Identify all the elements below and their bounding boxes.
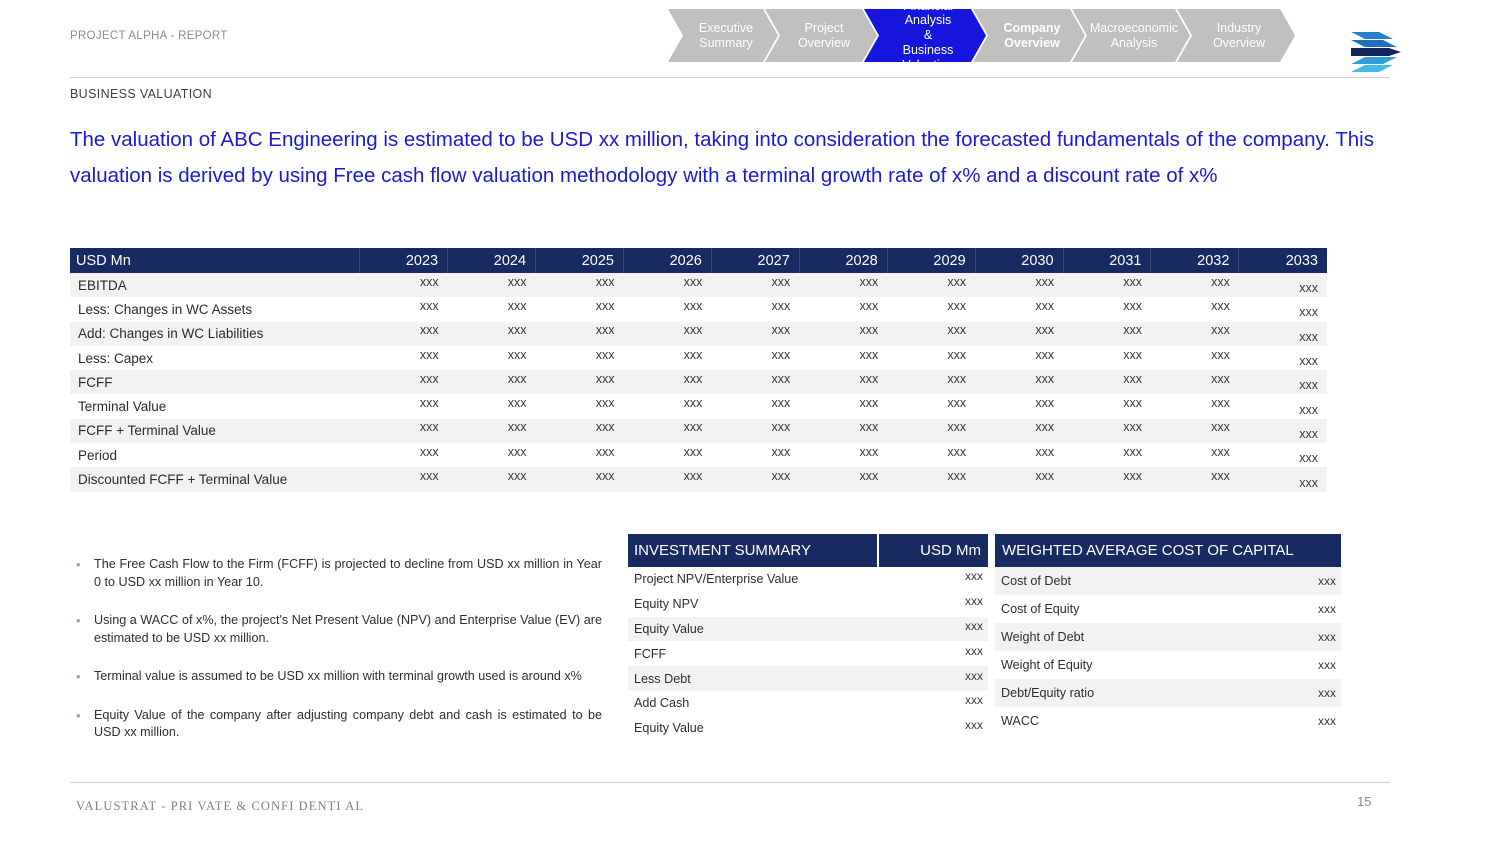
row-label: FCFF	[70, 370, 360, 394]
row-label: Discounted FCFF + Terminal Value	[70, 467, 360, 491]
confidentiality-notice: VALUSTRAT - PRI VATE & CONFI DENTI AL	[76, 799, 364, 814]
cell-value: xxx	[536, 273, 624, 297]
row-label: Add Cash	[628, 691, 878, 716]
column-header-year-2029: 2029	[887, 248, 975, 273]
wacc-header-row: WEIGHTED AVERAGE COST OF CAPITAL	[995, 534, 1341, 567]
column-header-year-2027: 2027	[711, 248, 799, 273]
cell-value: xxx	[360, 273, 448, 297]
cell-value: xxx	[975, 297, 1063, 321]
cell-value: xxx	[623, 322, 711, 346]
table-row: Debt/Equity ratioxxx	[995, 679, 1341, 707]
wacc-body: Cost of DebtxxxCost of EquityxxxWeight o…	[995, 567, 1341, 735]
cell-value: xxx	[360, 346, 448, 370]
column-header-year-2025: 2025	[536, 248, 624, 273]
table-row: WACCxxx	[995, 707, 1341, 735]
column-header-year-2033: 2033	[1239, 248, 1327, 273]
cell-value: xxx	[799, 419, 887, 443]
nav-chevron-3[interactable]: Financial Analysis&Business Valuation	[864, 9, 986, 62]
row-value: xxx	[878, 592, 988, 617]
cell-value: xxx	[799, 297, 887, 321]
cell-value: xxx	[1239, 273, 1327, 297]
nav-chevron-label: ProjectOverview	[798, 21, 850, 51]
row-label: Debt/Equity ratio	[995, 679, 1274, 707]
row-value: xxx	[878, 666, 988, 691]
cell-value: xxx	[536, 322, 624, 346]
row-label: FCFF	[628, 641, 878, 666]
cell-value: xxx	[1063, 443, 1151, 467]
nav-chevron-label: ExecutiveSummary	[699, 21, 753, 51]
cell-value: xxx	[1063, 394, 1151, 418]
row-label: FCFF + Terminal Value	[70, 419, 360, 443]
cell-value: xxx	[360, 297, 448, 321]
investment-summary-header: INVESTMENT SUMMARY USD Mm	[628, 534, 988, 567]
cell-value: xxx	[1151, 346, 1239, 370]
cell-value: xxx	[448, 394, 536, 418]
cell-value: xxx	[1063, 467, 1151, 491]
row-label: EBITDA	[70, 273, 360, 297]
column-header-year-2031: 2031	[1063, 248, 1151, 273]
cell-value: xxx	[448, 297, 536, 321]
table-row: Periodxxxxxxxxxxxxxxxxxxxxxxxxxxxxxxxxx	[70, 443, 1327, 467]
header-divider	[70, 77, 1390, 78]
cell-value: xxx	[536, 419, 624, 443]
row-value: xxx	[878, 617, 988, 642]
cell-value: xxx	[975, 370, 1063, 394]
cell-value: xxx	[1151, 297, 1239, 321]
row-label: WACC	[995, 707, 1274, 735]
cell-value: xxx	[975, 322, 1063, 346]
table-header-row: USD Mn 202320242025202620272028202920302…	[70, 248, 1327, 273]
cell-value: xxx	[360, 322, 448, 346]
cell-value: xxx	[1151, 443, 1239, 467]
cell-value: xxx	[711, 419, 799, 443]
table-row: Less: Changes in WC Assetsxxxxxxxxxxxxxx…	[70, 297, 1327, 321]
column-header-usd-mn: USD Mn	[70, 248, 360, 273]
row-label: Less: Changes in WC Assets	[70, 297, 360, 321]
bullet-text: Using a WACC of x%, the project's Net Pr…	[94, 612, 602, 647]
column-header-year-2024: 2024	[448, 248, 536, 273]
wacc-header: WEIGHTED AVERAGE COST OF CAPITAL	[995, 534, 1341, 567]
table-row: Discounted FCFF + Terminal Valuexxxxxxxx…	[70, 467, 1327, 491]
table-row: Equity Valuexxx	[628, 617, 988, 642]
cell-value: xxx	[1151, 273, 1239, 297]
nav-chevron-5[interactable]: MacroeconomicAnalysis	[1072, 9, 1190, 62]
cell-value: xxx	[623, 394, 711, 418]
cell-value: xxx	[536, 346, 624, 370]
table-row: EBITDAxxxxxxxxxxxxxxxxxxxxxxxxxxxxxxxxx	[70, 273, 1327, 297]
column-header-year-2028: 2028	[799, 248, 887, 273]
cell-value: xxx	[887, 346, 975, 370]
row-value: xxx	[878, 716, 988, 741]
cell-value: xxx	[536, 370, 624, 394]
row-label: Less Debt	[628, 666, 878, 691]
cell-value: xxx	[711, 322, 799, 346]
row-label: Weight of Equity	[995, 651, 1274, 679]
cell-value: xxx	[799, 273, 887, 297]
cell-value: xxx	[623, 297, 711, 321]
cell-value: xxx	[448, 346, 536, 370]
table-row: FCFF + Terminal Valuexxxxxxxxxxxxxxxxxxx…	[70, 419, 1327, 443]
cell-value: xxx	[360, 419, 448, 443]
cell-value: xxx	[887, 273, 975, 297]
cell-value: xxx	[360, 370, 448, 394]
row-label: Add: Changes in WC Liabilities	[70, 322, 360, 346]
row-label: Terminal Value	[70, 394, 360, 418]
cell-value: xxx	[799, 443, 887, 467]
table-row: Cost of Debtxxx	[995, 567, 1341, 595]
report-label: PROJECT ALPHA - REPORT	[70, 30, 228, 42]
cell-value: xxx	[1151, 370, 1239, 394]
row-value: xxx	[1274, 567, 1341, 595]
cell-value: xxx	[711, 370, 799, 394]
cell-value: xxx	[1239, 394, 1327, 418]
cell-value: xxx	[536, 467, 624, 491]
nav-chevron-label: IndustryOverview	[1213, 21, 1265, 51]
nav-chevron-label: MacroeconomicAnalysis	[1090, 21, 1178, 51]
table-row: FCFFxxx	[628, 641, 988, 666]
page-headline: The valuation of ABC Engineering is esti…	[70, 122, 1390, 194]
row-label: Equity Value	[628, 716, 878, 741]
cell-value: xxx	[448, 370, 536, 394]
cell-value: xxx	[1063, 297, 1151, 321]
cell-value: xxx	[1239, 322, 1327, 346]
cell-value: xxx	[975, 443, 1063, 467]
cell-value: xxx	[360, 467, 448, 491]
investment-summary-table: INVESTMENT SUMMARY USD Mm Project NPV/En…	[628, 534, 988, 741]
cell-value: xxx	[1063, 370, 1151, 394]
row-label: Cost of Equity	[995, 595, 1274, 623]
table-row: Add: Changes in WC Liabilitiesxxxxxxxxxx…	[70, 322, 1327, 346]
row-label: Less: Capex	[70, 346, 360, 370]
bullet-item: •Using a WACC of x%, the project's Net P…	[72, 612, 602, 647]
wacc-table: WEIGHTED AVERAGE COST OF CAPITAL Cost of…	[995, 534, 1341, 735]
row-value: xxx	[1274, 679, 1341, 707]
row-value: xxx	[1274, 651, 1341, 679]
cell-value: xxx	[623, 443, 711, 467]
table-row: Cost of Equityxxx	[995, 595, 1341, 623]
cell-value: xxx	[711, 297, 799, 321]
cell-value: xxx	[1239, 346, 1327, 370]
investment-summary-header-row: INVESTMENT SUMMARY USD Mm	[628, 534, 988, 567]
table-row: Terminal Valuexxxxxxxxxxxxxxxxxxxxxxxxxx…	[70, 394, 1327, 418]
row-value: xxx	[878, 691, 988, 716]
valustrat-chevron-logo	[1349, 30, 1403, 74]
row-label: Period	[70, 443, 360, 467]
cell-value: xxx	[799, 370, 887, 394]
cell-value: xxx	[448, 419, 536, 443]
cell-value: xxx	[1151, 322, 1239, 346]
navigation-chevron-bar: ExecutiveSummaryProjectOverviewFinancial…	[668, 9, 1282, 62]
cell-value: xxx	[799, 346, 887, 370]
table-row: Less Debtxxx	[628, 666, 988, 691]
cell-value: xxx	[623, 419, 711, 443]
cell-value: xxx	[711, 467, 799, 491]
cell-value: xxx	[799, 322, 887, 346]
cell-value: xxx	[1151, 394, 1239, 418]
cell-value: xxx	[799, 394, 887, 418]
table-header: USD Mn 202320242025202620272028202920302…	[70, 248, 1327, 273]
bullet-text: Terminal value is assumed to be USD xx m…	[94, 668, 602, 686]
cell-value: xxx	[711, 443, 799, 467]
investment-summary-unit: USD Mm	[878, 534, 988, 567]
cell-value: xxx	[448, 443, 536, 467]
commentary-bullet-list: •The Free Cash Flow to the Firm (FCFF) i…	[72, 556, 602, 763]
cell-value: xxx	[1239, 467, 1327, 491]
cell-value: xxx	[1151, 419, 1239, 443]
nav-chevron-4[interactable]: CompanyOverview	[973, 9, 1085, 62]
cell-value: xxx	[711, 394, 799, 418]
investment-summary-body: Project NPV/Enterprise ValuexxxEquity NP…	[628, 567, 988, 741]
bullet-dot-icon: •	[72, 612, 94, 647]
row-label: Equity NPV	[628, 592, 878, 617]
row-value: xxx	[1274, 595, 1341, 623]
bullet-dot-icon: •	[72, 556, 94, 591]
bullet-item: •Terminal value is assumed to be USD xx …	[72, 668, 602, 686]
cell-value: xxx	[1151, 467, 1239, 491]
nav-chevron-label: CompanyOverview	[1004, 21, 1061, 51]
section-title: BUSINESS VALUATION	[70, 87, 212, 101]
cell-value: xxx	[448, 322, 536, 346]
cell-value: xxx	[1063, 346, 1151, 370]
nav-chevron-6[interactable]: IndustryOverview	[1177, 9, 1295, 62]
footer-divider	[70, 782, 1390, 783]
row-value: xxx	[1274, 707, 1341, 735]
table-row: Less: Capexxxxxxxxxxxxxxxxxxxxxxxxxxxxxx…	[70, 346, 1327, 370]
cell-value: xxx	[1063, 419, 1151, 443]
cell-value: xxx	[975, 419, 1063, 443]
cell-value: xxx	[1063, 322, 1151, 346]
table-row: Add Cashxxx	[628, 691, 988, 716]
cell-value: xxx	[887, 370, 975, 394]
cell-value: xxx	[887, 322, 975, 346]
cell-value: xxx	[975, 467, 1063, 491]
column-header-year-2030: 2030	[975, 248, 1063, 273]
cell-value: xxx	[1239, 297, 1327, 321]
row-label: Project NPV/Enterprise Value	[628, 567, 878, 592]
row-label: Cost of Debt	[995, 567, 1274, 595]
cell-value: xxx	[536, 394, 624, 418]
row-value: xxx	[1274, 623, 1341, 651]
cell-value: xxx	[711, 346, 799, 370]
cell-value: xxx	[975, 273, 1063, 297]
cell-value: xxx	[711, 273, 799, 297]
cell-value: xxx	[887, 467, 975, 491]
cell-value: xxx	[975, 394, 1063, 418]
table-row: Project NPV/Enterprise Valuexxx	[628, 567, 988, 592]
cell-value: xxx	[448, 273, 536, 297]
row-value: xxx	[878, 641, 988, 666]
cell-value: xxx	[975, 346, 1063, 370]
cell-value: xxx	[536, 443, 624, 467]
column-header-year-2026: 2026	[623, 248, 711, 273]
cell-value: xxx	[799, 467, 887, 491]
bullet-dot-icon: •	[72, 668, 94, 686]
cell-value: xxx	[448, 467, 536, 491]
nav-chevron-label: Financial Analysis&Business Valuation	[880, 0, 976, 72]
cell-value: xxx	[623, 346, 711, 370]
cell-value: xxx	[623, 273, 711, 297]
cell-value: xxx	[887, 394, 975, 418]
nav-chevron-1[interactable]: ExecutiveSummary	[668, 9, 778, 62]
cell-value: xxx	[360, 443, 448, 467]
table-row: FCFFxxxxxxxxxxxxxxxxxxxxxxxxxxxxxxxxx	[70, 370, 1327, 394]
cell-value: xxx	[1063, 273, 1151, 297]
column-header-year-2023: 2023	[360, 248, 448, 273]
row-label: Weight of Debt	[995, 623, 1274, 651]
column-header-year-2032: 2032	[1151, 248, 1239, 273]
nav-chevron-2[interactable]: ProjectOverview	[765, 9, 877, 62]
cell-value: xxx	[1239, 443, 1327, 467]
cell-value: xxx	[1239, 419, 1327, 443]
wacc-title: WEIGHTED AVERAGE COST OF CAPITAL	[995, 534, 1341, 567]
investment-summary-title: INVESTMENT SUMMARY	[628, 534, 878, 567]
bullet-text: Equity Value of the company after adjust…	[94, 707, 602, 742]
cell-value: xxx	[536, 297, 624, 321]
table-row: Equity NPVxxx	[628, 592, 988, 617]
page-number: 15	[1357, 794, 1371, 809]
cell-value: xxx	[623, 467, 711, 491]
table-row: Equity Valuexxx	[628, 716, 988, 741]
bullet-item: •The Free Cash Flow to the Firm (FCFF) i…	[72, 556, 602, 591]
cell-value: xxx	[360, 394, 448, 418]
table-row: Weight of Equityxxx	[995, 651, 1341, 679]
row-label: Equity Value	[628, 617, 878, 642]
cell-value: xxx	[887, 419, 975, 443]
cell-value: xxx	[623, 370, 711, 394]
row-value: xxx	[878, 567, 988, 592]
cell-value: xxx	[1239, 370, 1327, 394]
cell-value: xxx	[887, 297, 975, 321]
bullet-text: The Free Cash Flow to the Firm (FCFF) is…	[94, 556, 602, 591]
bullet-dot-icon: •	[72, 707, 94, 742]
dcf-cashflow-table: USD Mn 202320242025202620272028202920302…	[70, 248, 1327, 492]
table-body: EBITDAxxxxxxxxxxxxxxxxxxxxxxxxxxxxxxxxxL…	[70, 273, 1327, 492]
table-row: Weight of Debtxxx	[995, 623, 1341, 651]
bullet-item: •Equity Value of the company after adjus…	[72, 707, 602, 742]
cell-value: xxx	[887, 443, 975, 467]
